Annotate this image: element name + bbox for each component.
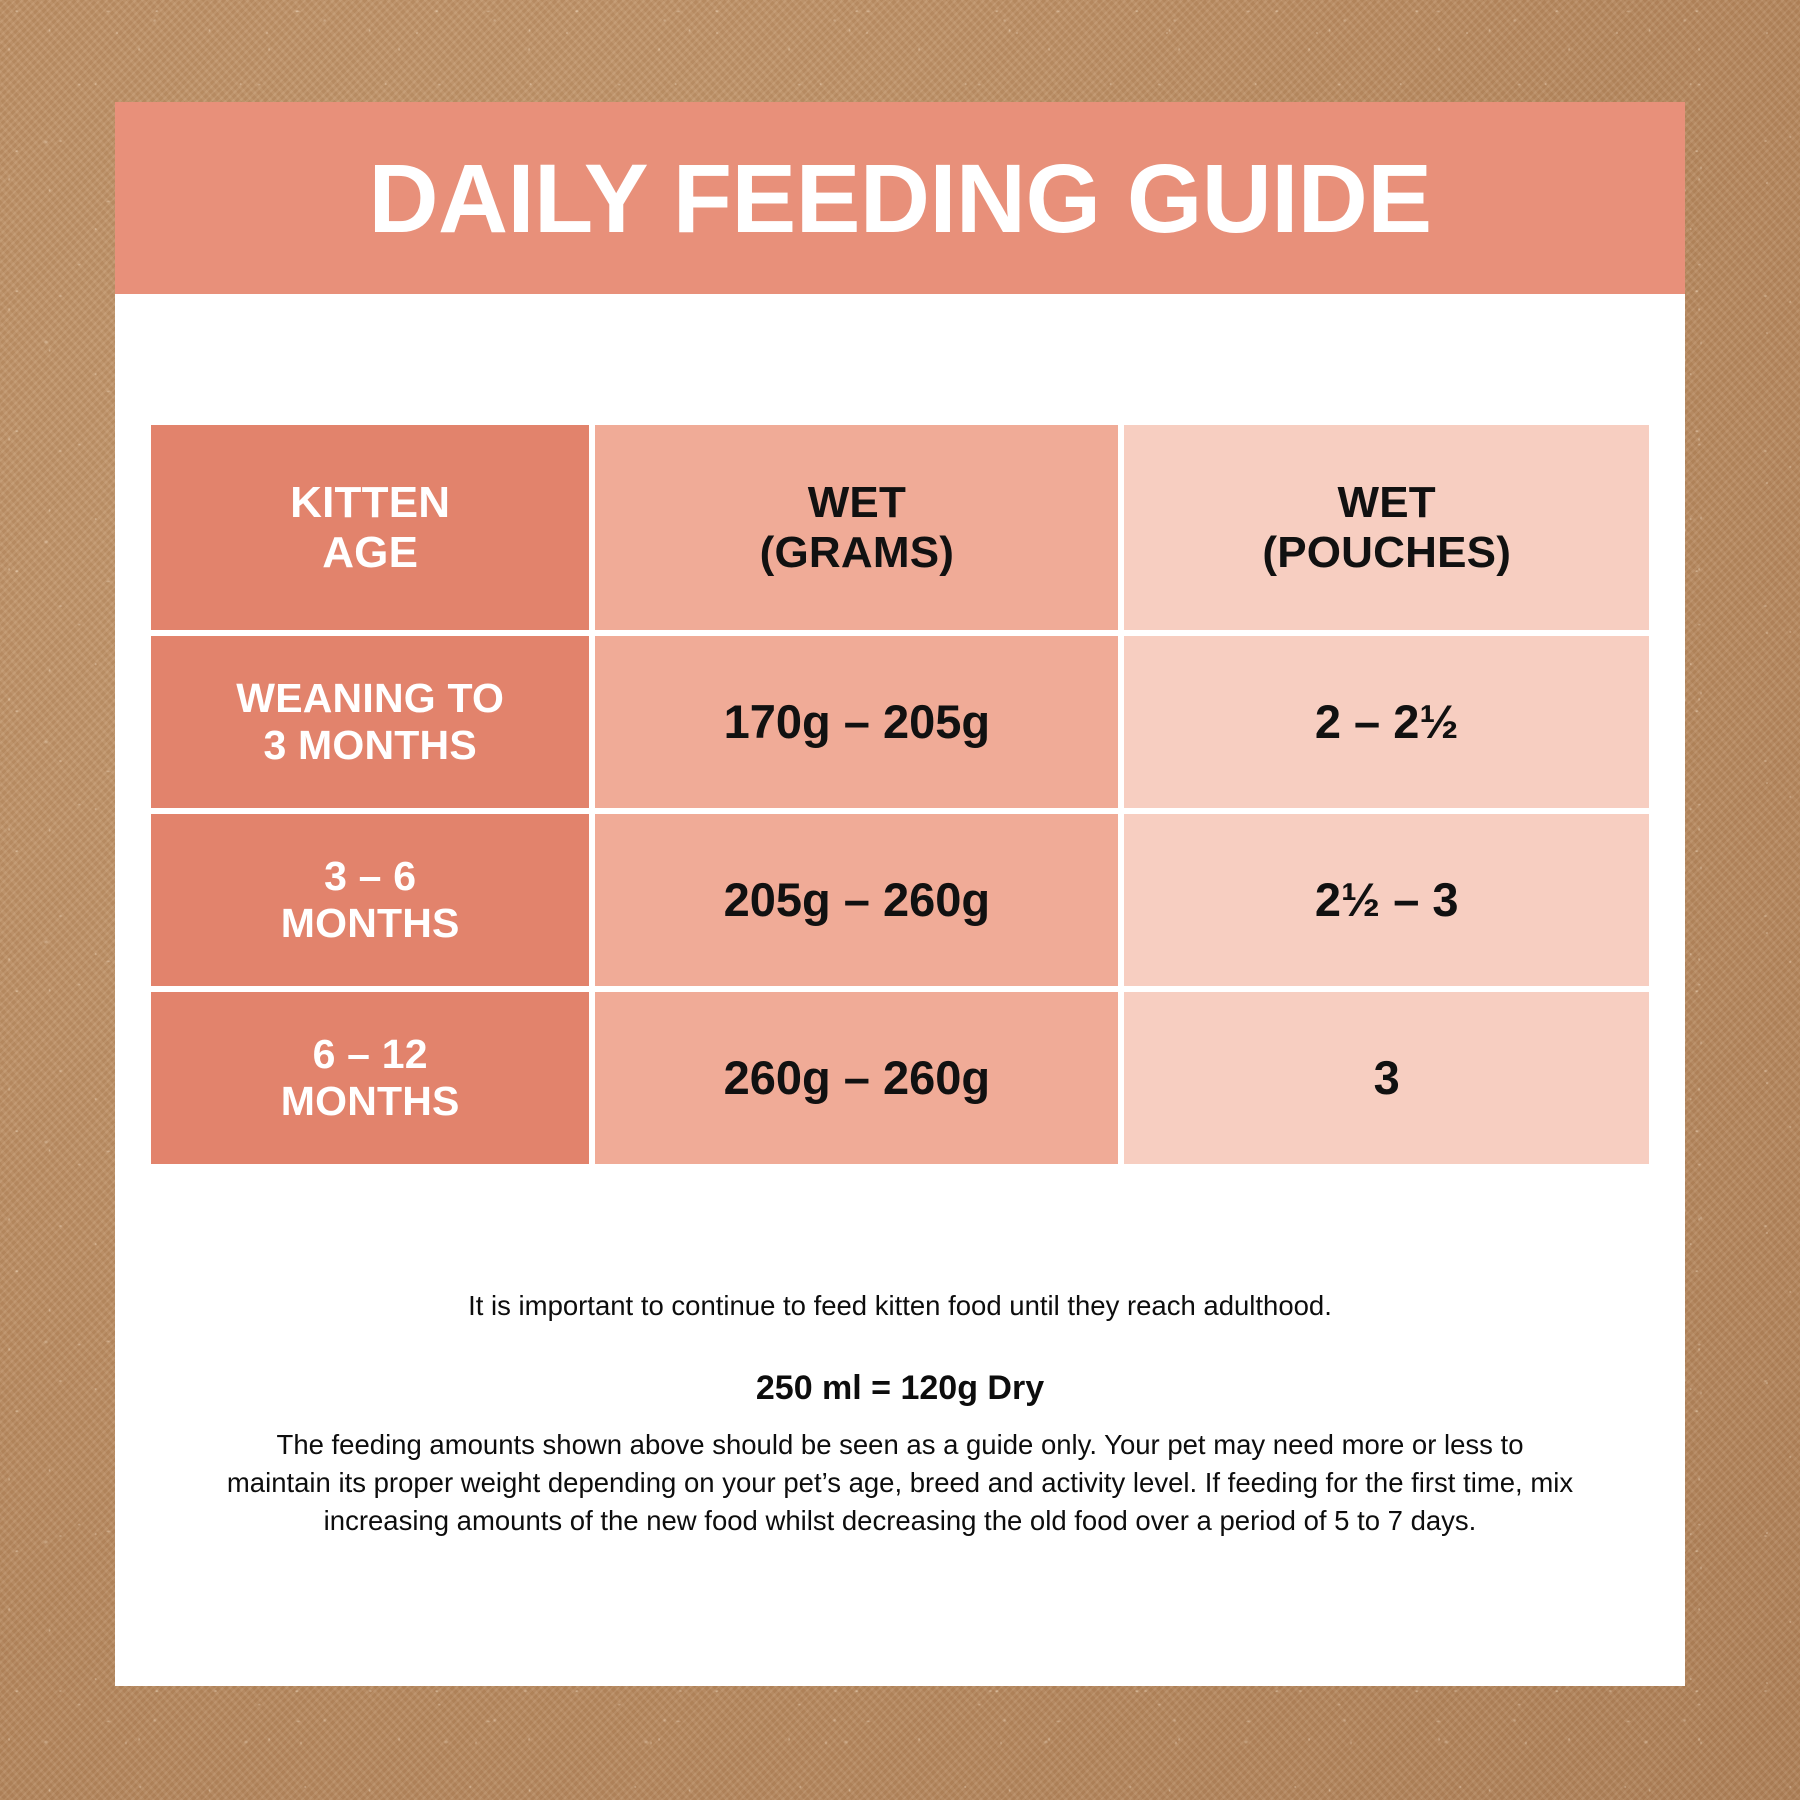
footer-note: It is important to continue to feed kitt… (210, 1288, 1590, 1324)
column-header-wet-pouches-label: WET (POUCHES) (1124, 425, 1649, 630)
header-band: DAILY FEEDING GUIDE (115, 102, 1685, 294)
table-header-row: KITTEN AGE WET (GRAMS) WET (POUCHES) (151, 425, 1649, 630)
cell-wet-pouches-row-1-label: 2 – 2½ (1124, 636, 1649, 808)
cell-wet-grams-row-1-label: 170g – 205g (595, 636, 1118, 808)
table-row: WEANING TO 3 MONTHS 170g – 205g 2 – 2½ (151, 636, 1649, 808)
page-title: DAILY FEEDING GUIDE (368, 150, 1431, 247)
cell-age-row-3: 6 – 12 MONTHS (151, 992, 589, 1164)
column-header-wet-grams-label: WET (GRAMS) (595, 425, 1118, 630)
cell-wet-pouches-row-1: 2 – 2½ (1124, 636, 1649, 808)
table-header: KITTEN AGE WET (GRAMS) WET (POUCHES) (151, 425, 1649, 630)
cell-wet-grams-row-2: 205g – 260g (595, 814, 1118, 986)
cell-age-row-1-label: WEANING TO 3 MONTHS (151, 636, 589, 808)
column-header-kitten-age: KITTEN AGE (151, 425, 589, 630)
daily-feeding-table: KITTEN AGE WET (GRAMS) WET (POUCHES) WEA… (145, 419, 1655, 1170)
cell-wet-pouches-row-3-label: 3 (1124, 992, 1649, 1164)
cell-wet-pouches-row-2-label: 2½ – 3 (1124, 814, 1649, 986)
table-body: WEANING TO 3 MONTHS 170g – 205g 2 – 2½ 3… (151, 636, 1649, 1164)
column-header-kitten-age-label: KITTEN AGE (151, 425, 589, 630)
cell-wet-pouches-row-3: 3 (1124, 992, 1649, 1164)
cell-wet-grams-row-3: 260g – 260g (595, 992, 1118, 1164)
cell-wet-grams-row-3-label: 260g – 260g (595, 992, 1118, 1164)
column-header-wet-pouches: WET (POUCHES) (1124, 425, 1649, 630)
cell-age-row-3-label: 6 – 12 MONTHS (151, 992, 589, 1164)
cell-wet-grams-row-1: 170g – 205g (595, 636, 1118, 808)
cell-wet-pouches-row-2: 2½ – 3 (1124, 814, 1649, 986)
footer-disclaimer: The feeding amounts shown above should b… (210, 1426, 1590, 1540)
cell-age-row-1: WEANING TO 3 MONTHS (151, 636, 589, 808)
cell-wet-grams-row-2-label: 205g – 260g (595, 814, 1118, 986)
table-row: 3 – 6 MONTHS 205g – 260g 2½ – 3 (151, 814, 1649, 986)
footer-section: It is important to continue to feed kitt… (210, 1288, 1590, 1540)
feeding-table-container: KITTEN AGE WET (GRAMS) WET (POUCHES) WEA… (145, 419, 1655, 1170)
table-row: 6 – 12 MONTHS 260g – 260g 3 (151, 992, 1649, 1164)
column-header-wet-grams: WET (GRAMS) (595, 425, 1118, 630)
footer-conversion: 250 ml = 120g Dry (210, 1366, 1590, 1410)
cell-age-row-2: 3 – 6 MONTHS (151, 814, 589, 986)
feeding-guide-card: DAILY FEEDING GUIDE KITTEN AGE WET (GRAM… (115, 102, 1685, 1686)
cell-age-row-2-label: 3 – 6 MONTHS (151, 814, 589, 986)
